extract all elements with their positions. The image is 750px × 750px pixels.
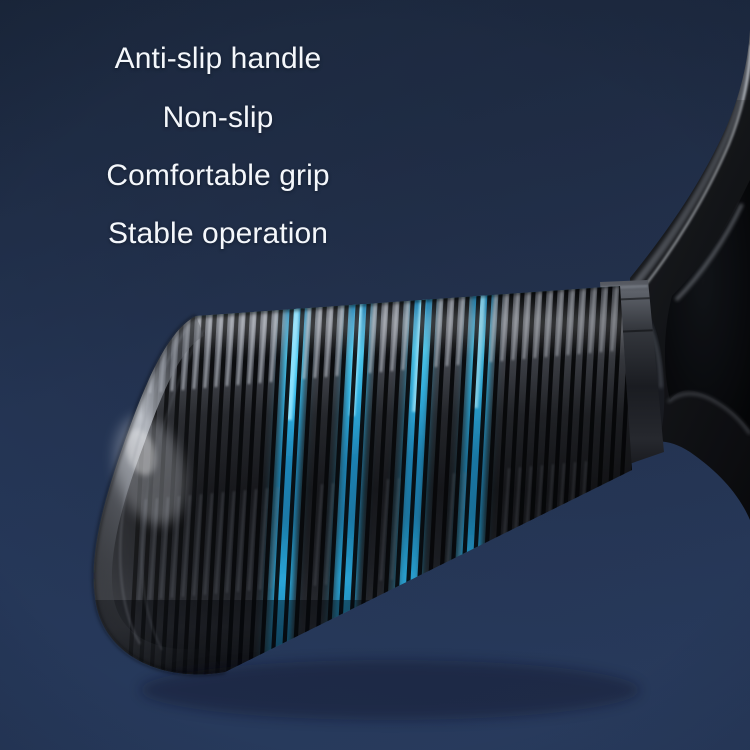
feature-line-stable-operation: Stable operation xyxy=(0,219,436,249)
feature-line-anti-slip-handle: Anti-slip handle xyxy=(0,44,436,74)
feature-text-block: Anti-slip handle Non-slip Comfortable gr… xyxy=(0,44,436,249)
feature-line-non-slip: Non-slip xyxy=(0,103,436,133)
product-feature-image: Anti-slip handle Non-slip Comfortable gr… xyxy=(0,0,750,750)
tool-head xyxy=(600,0,750,560)
feature-line-comfortable-grip: Comfortable grip xyxy=(0,161,436,191)
